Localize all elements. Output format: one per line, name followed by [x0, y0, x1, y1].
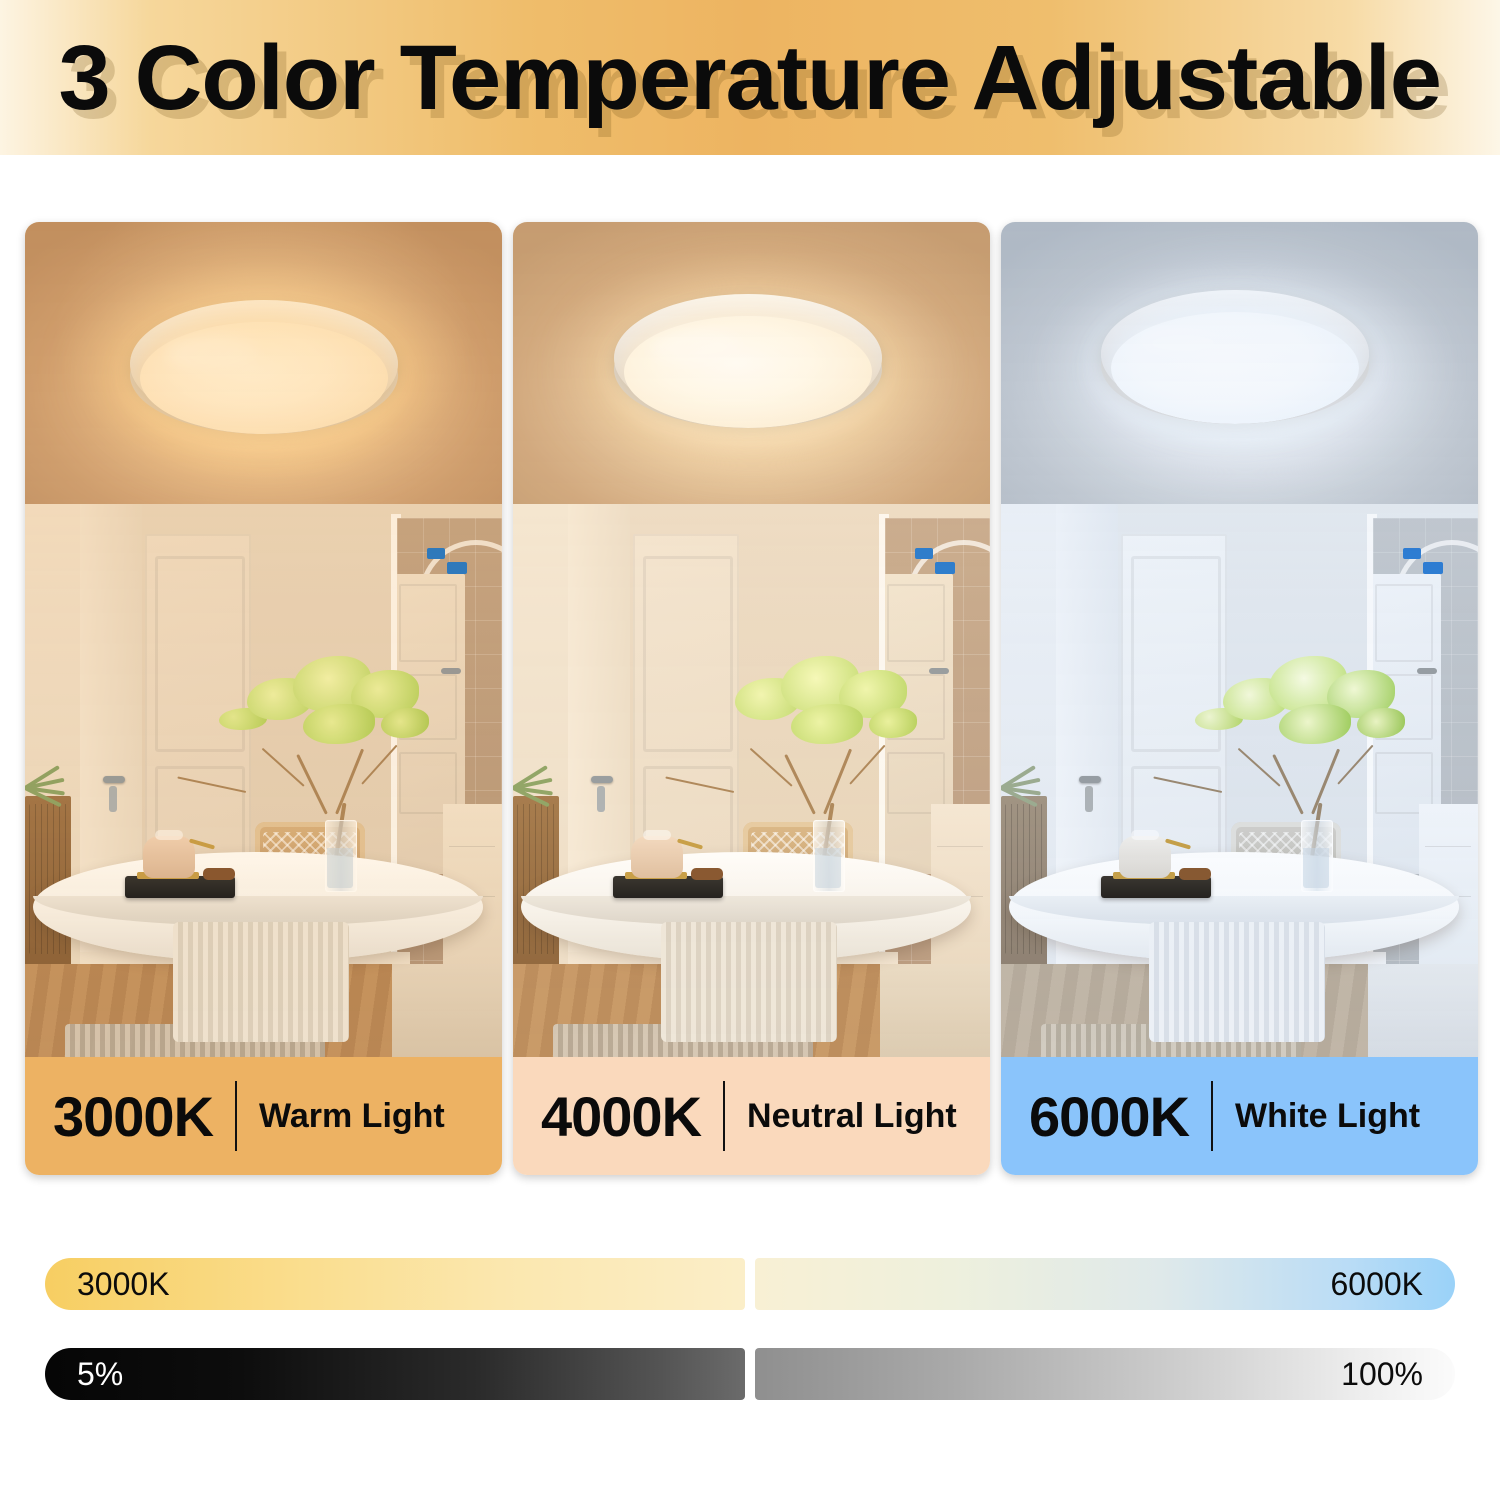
room-interior	[513, 504, 990, 1057]
light-type-label: Warm Light	[259, 1097, 445, 1136]
label-6000k: 6000K White Light	[1001, 1057, 1478, 1175]
ceiling-light-fixture	[614, 294, 882, 434]
branch-stem	[1153, 776, 1222, 793]
fern-plant	[25, 766, 67, 822]
fern-plant	[1001, 766, 1043, 822]
vase-water	[815, 848, 841, 888]
door-lock-plate	[109, 786, 117, 812]
fixture-highlight	[1137, 326, 1229, 360]
scene-image-4000k	[513, 222, 990, 1057]
kelvin-value: 4000K	[513, 1084, 701, 1149]
leaf-cluster	[1357, 708, 1405, 738]
door-handle	[103, 776, 125, 783]
teapot-lid	[155, 830, 183, 840]
table-pedestal	[661, 922, 837, 1042]
door-lock-plate	[1085, 786, 1093, 812]
label-divider	[723, 1081, 725, 1151]
ct-bar-right-segment[interactable]: 6000K	[755, 1258, 1455, 1310]
door-label-blue	[935, 562, 955, 574]
hall-door-panel-1	[399, 584, 457, 662]
panel-4000k[interactable]: 4000K Neutral Light	[513, 222, 990, 1175]
teapot-lid	[1131, 830, 1159, 840]
branch-stem	[361, 745, 397, 785]
door-lock-plate	[597, 786, 605, 812]
snack-plate	[1179, 868, 1211, 880]
hall-door-handle	[929, 668, 949, 674]
teapot	[1119, 836, 1171, 878]
leaf-cluster	[381, 708, 429, 738]
door-sticker-blue	[427, 548, 445, 559]
scene-image-3000k	[25, 222, 502, 1057]
spec-bars: 3000K 6000K 5% 100%	[45, 1258, 1455, 1438]
ct-min-label: 3000K	[45, 1266, 202, 1303]
flowering-branch	[673, 652, 923, 852]
vase-water	[1303, 848, 1329, 888]
kelvin-value: 3000K	[25, 1084, 213, 1149]
ct-bar-left-segment[interactable]: 3000K	[45, 1258, 745, 1310]
cabinet-drawer-line	[1425, 846, 1471, 847]
snack-plate	[691, 868, 723, 880]
door-sticker-blue	[915, 548, 933, 559]
flowering-branch	[1161, 652, 1411, 852]
light-type-label: Neutral Light	[747, 1097, 957, 1136]
product-infographic: 3 Color Temperature Adjustable	[0, 0, 1500, 1500]
branch-stem	[823, 749, 852, 815]
teapot	[143, 836, 195, 878]
page-title: 3 Color Temperature Adjustable	[59, 32, 1441, 124]
brightness-max-label: 100%	[1309, 1356, 1455, 1393]
label-divider	[1211, 1081, 1213, 1151]
scene-image-6000k	[1001, 222, 1478, 1057]
hall-door-panel-1	[1375, 584, 1433, 662]
label-4000k: 4000K Neutral Light	[513, 1057, 990, 1175]
hall-door-handle	[441, 668, 461, 674]
door-handle	[591, 776, 613, 783]
panel-3000k[interactable]: 3000K Warm Light	[25, 222, 502, 1175]
branch-stem	[1337, 745, 1373, 785]
fern-plant	[513, 766, 555, 822]
hall-door-panel-1	[887, 584, 945, 662]
leaf-cluster	[1279, 704, 1351, 744]
vase-water	[327, 848, 353, 888]
tile-floor-area	[880, 964, 990, 1057]
leaf-cluster	[303, 704, 375, 744]
label-3000k: 3000K Warm Light	[25, 1057, 502, 1175]
branch-stem	[1311, 749, 1340, 815]
flowering-branch	[185, 652, 435, 852]
tile-floor-area	[1368, 964, 1478, 1057]
branch-stem	[177, 776, 246, 793]
door-sticker-blue	[1403, 548, 1421, 559]
door-label-blue	[447, 562, 467, 574]
ceiling-light-fixture	[130, 300, 398, 440]
door-label-blue	[1423, 562, 1443, 574]
panel-6000k[interactable]: 6000K White Light	[1001, 222, 1478, 1175]
hall-door-handle	[1417, 668, 1437, 674]
table-pedestal	[1149, 922, 1325, 1042]
cabinet-drawer-line	[449, 846, 495, 847]
tile-floor-area	[392, 964, 502, 1057]
label-divider	[235, 1081, 237, 1151]
light-type-label: White Light	[1235, 1097, 1420, 1136]
leaf-cluster	[791, 704, 863, 744]
door-handle	[1079, 776, 1101, 783]
room-interior	[25, 504, 502, 1057]
cabinet-drawer-line	[937, 846, 983, 847]
kelvin-value: 6000K	[1001, 1084, 1189, 1149]
fixture-highlight	[166, 336, 258, 370]
branch-stem	[849, 745, 885, 785]
panel-row: 3000K Warm Light	[0, 222, 1500, 1177]
fixture-diffuser	[140, 322, 388, 434]
brightness-min-label: 5%	[45, 1356, 155, 1393]
table-pedestal	[173, 922, 349, 1042]
room-interior	[1001, 504, 1478, 1057]
header-banner: 3 Color Temperature Adjustable	[0, 0, 1500, 155]
fixture-diffuser	[624, 316, 872, 428]
brightness-bar-left-segment[interactable]: 5%	[45, 1348, 745, 1400]
brightness-bar[interactable]: 5% 100%	[45, 1348, 1455, 1400]
leaf-cluster	[869, 708, 917, 738]
brightness-bar-right-segment[interactable]: 100%	[755, 1348, 1455, 1400]
color-temperature-bar[interactable]: 3000K 6000K	[45, 1258, 1455, 1310]
snack-plate	[203, 868, 235, 880]
ceiling-light-fixture	[1101, 290, 1369, 430]
teapot	[631, 836, 683, 878]
branch-stem	[665, 776, 734, 793]
fixture-highlight	[650, 330, 742, 364]
fixture-diffuser	[1111, 312, 1359, 424]
ct-max-label: 6000K	[1298, 1266, 1455, 1303]
branch-stem	[335, 749, 364, 815]
teapot-lid	[643, 830, 671, 840]
